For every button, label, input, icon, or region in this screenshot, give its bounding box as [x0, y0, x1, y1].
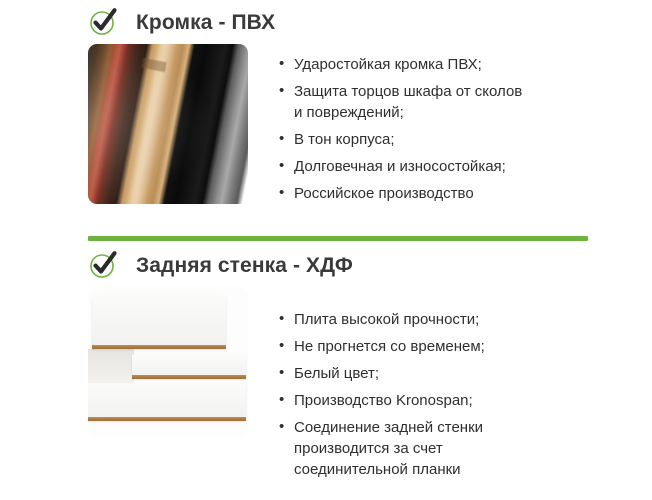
- check-circle-icon: [88, 250, 118, 280]
- list-item: Ударостойкая кромка ПВХ;: [278, 54, 522, 75]
- edge-banding-gloss-sheen: [88, 44, 248, 204]
- feature-list-back: Плита высокой прочности; Не прогнется со…: [278, 309, 485, 486]
- check-circle-icon: [88, 7, 118, 37]
- section-body: Ударостойкая кромка ПВХ; Защита торцов ш…: [0, 44, 652, 210]
- list-item-text: Плита высокой прочности;: [294, 311, 479, 328]
- list-item: Долговечная и износостойкая;: [278, 156, 522, 177]
- product-features-page: Кромка - ПВХ Ударостойкая кромка ПВХ; За…: [0, 0, 652, 500]
- list-item-text: Соединение задней стенки: [294, 419, 483, 436]
- hdf-panel-middle: [132, 355, 246, 379]
- list-item-text: Не прогнется со временем;: [294, 338, 485, 355]
- edge-banding-image: [88, 44, 248, 204]
- list-item-text: Долговечная и износостойкая;: [294, 158, 506, 175]
- hdf-panel-bottom: [88, 383, 246, 421]
- hdf-panel-top: [92, 293, 226, 349]
- hdf-panel-image: [88, 287, 248, 437]
- feature-list-edge: Ударостойкая кромка ПВХ; Защита торцов ш…: [278, 54, 522, 210]
- list-item: Белый цвет;: [278, 363, 485, 384]
- list-item-text: В тон корпуса;: [294, 131, 395, 148]
- hdf-panel-shadow: [88, 349, 134, 385]
- list-item-text: Российское производство: [294, 185, 474, 202]
- list-item-text-line2: производится за счет: [294, 438, 485, 459]
- list-item-text: Производство Kronospan;: [294, 392, 473, 409]
- list-item: Плита высокой прочности;: [278, 309, 485, 330]
- page-title: Задняя стенка - ХДФ: [136, 255, 353, 276]
- list-item: Соединение задней стенки производится за…: [278, 417, 485, 480]
- list-item: Производство Kronospan;: [278, 390, 485, 411]
- page-title: Кромка - ПВХ: [136, 12, 275, 33]
- list-item-text: Белый цвет;: [294, 365, 379, 382]
- list-item-text: Ударостойкая кромка ПВХ;: [294, 56, 482, 73]
- list-item-text: Защита торцов шкафа от сколов: [294, 83, 522, 100]
- list-item-text-line3: соединительной планки: [294, 459, 485, 480]
- section-header: Задняя стенка - ХДФ: [0, 243, 652, 287]
- section-back-panel: Задняя стенка - ХДФ Плита высокой прочно…: [0, 243, 652, 486]
- list-item: В тон корпуса;: [278, 129, 522, 150]
- list-item: Российское производство: [278, 183, 522, 204]
- list-item: Не прогнется со временем;: [278, 336, 485, 357]
- list-item: Защита торцов шкафа от сколов и поврежде…: [278, 81, 522, 123]
- section-edge-banding: Кромка - ПВХ Ударостойкая кромка ПВХ; За…: [0, 0, 652, 210]
- section-header: Кромка - ПВХ: [0, 0, 652, 44]
- list-item-text-line2: и повреждений;: [294, 102, 522, 123]
- section-body: Плита высокой прочности; Не прогнется со…: [0, 287, 652, 486]
- green-divider: [88, 236, 588, 241]
